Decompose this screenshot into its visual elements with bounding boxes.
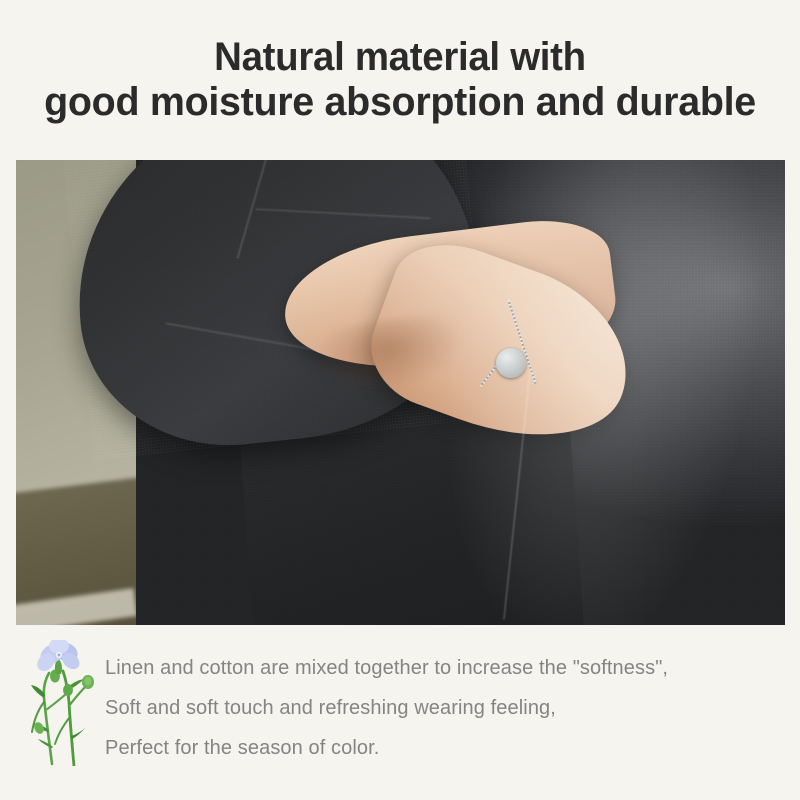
bracelet-disc-pendant <box>496 348 526 378</box>
sleeve-seam-horizontal <box>256 208 431 219</box>
product-photo-inner <box>16 160 785 625</box>
flax-flower-icon <box>22 640 100 766</box>
page-headline: Natural material with good moisture abso… <box>0 36 800 124</box>
headline-line-1: Natural material with <box>16 36 784 79</box>
caption-block: Linen and cotton are mixed together to i… <box>0 636 800 800</box>
caption-line-1: Linen and cotton are mixed together to i… <box>105 648 795 688</box>
product-photo <box>16 160 785 625</box>
headline-line-2: good moisture absorption and durable <box>6 81 794 124</box>
caption-line-2: Soft and soft touch and refreshing weari… <box>105 688 795 728</box>
caption-line-3: Perfect for the season of color. <box>105 728 795 768</box>
product-detail-page: Natural material with good moisture abso… <box>0 0 800 800</box>
caption-text: Linen and cotton are mixed together to i… <box>105 648 795 768</box>
